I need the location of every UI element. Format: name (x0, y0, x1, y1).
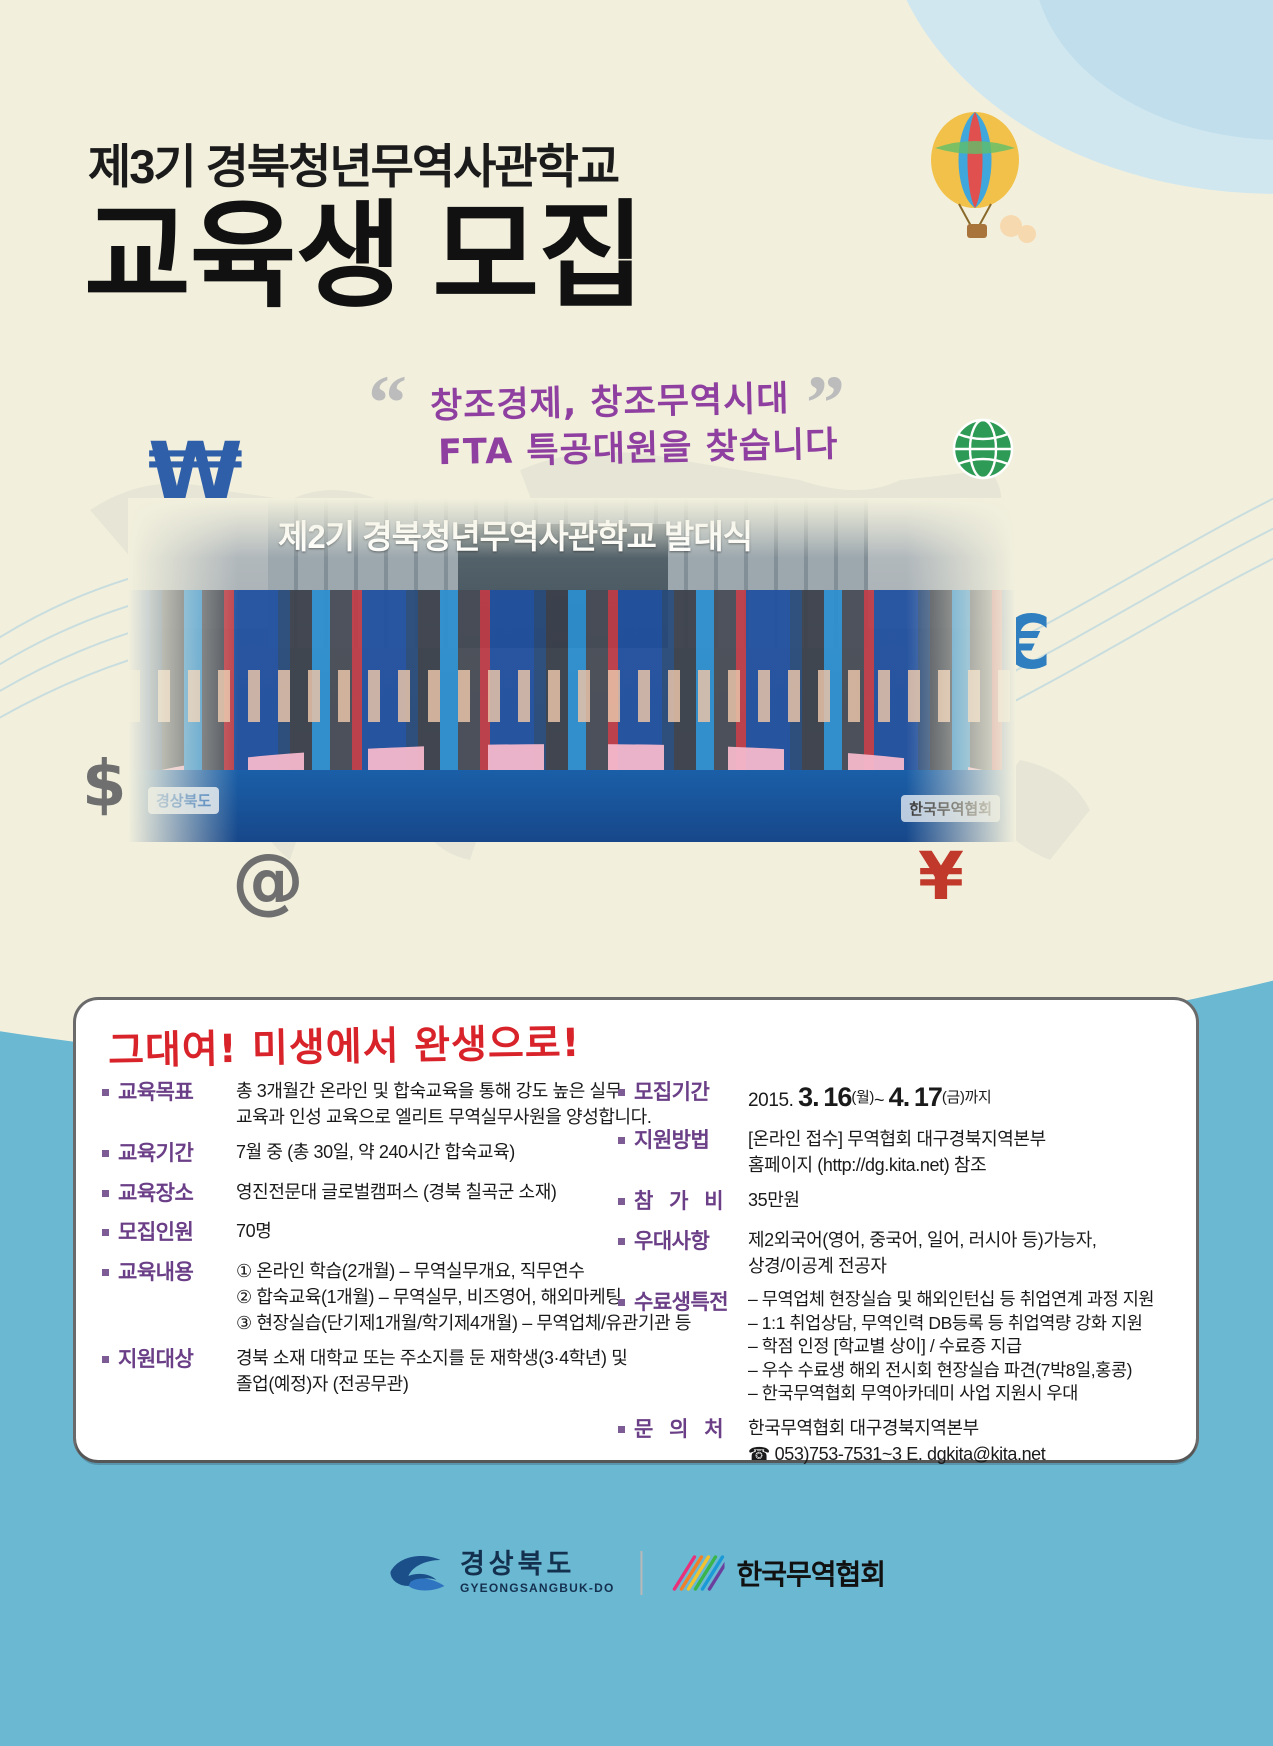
info-row-우대사항: 우대사항제2외국어(영어, 중국어, 일어, 러시아 등)가능자,상경/이공계 … (618, 1227, 1196, 1279)
yen-currency-icon: ¥ (918, 838, 964, 915)
period-end-month: 4. (889, 1082, 910, 1112)
period-start-month: 3. (798, 1082, 819, 1112)
info-value-line: 70명 (236, 1218, 271, 1244)
bullet-icon (618, 1299, 627, 1306)
photo-fade-top (128, 498, 1016, 558)
period-start-day: 16 (823, 1082, 851, 1112)
card-column-left: 교육목표총 3개월간 온라인 및 합숙교육을 통해 강도 높은 실무교육과 인성… (76, 1078, 608, 1476)
info-value: 영진전문대 글로벌캠퍼스 (경북 칠곡군 소재) (226, 1179, 556, 1205)
info-label: 우대사항 (634, 1227, 738, 1257)
card-headline: 그대여! 미생에서 완생으로! (108, 1012, 581, 1076)
period-year: 2015. (748, 1090, 794, 1111)
info-row-지원대상: 지원대상경북 소재 대학교 또는 주소지를 둔 재학생(3·4학년) 및졸업(예… (102, 1345, 608, 1397)
info-row-교육기간: 교육기간7월 중 (총 30일, 약 240시간 합숙교육) (102, 1139, 608, 1169)
footer-divider (640, 1551, 642, 1595)
info-value-line: 7월 중 (총 30일, 약 240시간 합숙교육) (236, 1139, 515, 1165)
period-start-dow: (월) (851, 1089, 874, 1106)
bullet-icon (618, 1137, 627, 1144)
info-value-line: 홈페이지 (http://dg.kita.net) 참조 (748, 1152, 1046, 1178)
gyeongbuk-logo-en: GYEONGSANGBUK-DO (460, 1581, 615, 1595)
kita-mark-icon (668, 1553, 724, 1593)
info-value: 총 3개월간 온라인 및 합숙교육을 통해 강도 높은 실무교육과 인성 교육으… (226, 1078, 651, 1130)
gyeongbuk-logo-text: 경상북도 GYEONGSANGBUK-DO (460, 1551, 615, 1595)
poster-title: 교육생 모집 (84, 196, 644, 318)
info-row-지원방법: 지원방법[온라인 접수] 무역협회 대구경북지역본부홈페이지 (http://d… (618, 1126, 1196, 1178)
info-card: 그대여! 미생에서 완생으로! 교육목표총 3개월간 온라인 및 합숙교육을 통… (76, 1000, 1196, 1460)
period-tilde: ~ (874, 1090, 884, 1110)
kita-logo: 한국무역협회 (668, 1553, 885, 1593)
gyeongbuk-logo-kr: 경상북도 (460, 1551, 615, 1578)
info-row-모집기간: 모집기간2015. 3. 16(월)~ 4. 17(금)까지 (618, 1078, 1196, 1117)
info-row-교육장소: 교육장소영진전문대 글로벌캠퍼스 (경북 칠곡군 소재) (102, 1179, 608, 1209)
info-value: 35만원 (738, 1187, 800, 1213)
bullet-icon (102, 1269, 111, 1276)
event-photo: 제2기 경북청년무역사관학교 발대식 경상북도 한국무역협회 (128, 498, 1016, 842)
info-value-line: – 한국무역협회 무역아카데미 사업 지원시 우대 (748, 1382, 1154, 1406)
info-value-line: 한국무역협회 대구경북지역본부 (748, 1415, 1045, 1441)
info-label: 지원방법 (634, 1126, 738, 1156)
info-row-문의처: 문 의 처한국무역협회 대구경북지역본부☎ 053)753-7531~3 E. … (618, 1415, 1196, 1467)
info-label: 교육목표 (118, 1078, 226, 1108)
info-value: 70명 (226, 1218, 271, 1244)
gyeongsangbuk-do-logo: 경상북도 GYEONGSANGBUK-DO (388, 1551, 615, 1595)
quote-open-icon: “ (368, 364, 407, 442)
info-value-line: ☎ 053)753-7531~3 E. dgkita@kita.net (748, 1441, 1045, 1467)
photo-banner (128, 770, 1016, 842)
info-label: 참 가 비 (634, 1187, 738, 1217)
bullet-icon (618, 1238, 627, 1245)
bullet-icon (102, 1356, 111, 1363)
info-row-수료생특전: 수료생특전– 무역업체 현장실습 및 해외인턴십 등 취업연계 과정 지원– 1… (618, 1288, 1196, 1406)
globe-icon (952, 418, 1014, 480)
info-label: 교육내용 (118, 1258, 226, 1288)
hot-air-balloon-icon (915, 108, 1045, 253)
info-value-line: 경북 소재 대학교 또는 주소지를 둔 재학생(3·4학년) 및 (236, 1345, 627, 1371)
info-value: 7월 중 (총 30일, 약 240시간 합숙교육) (226, 1139, 515, 1165)
photo-crowd-faces (128, 670, 1016, 722)
bullet-icon (618, 1198, 627, 1205)
card-columns: 교육목표총 3개월간 온라인 및 합숙교육을 통해 강도 높은 실무교육과 인성… (76, 1078, 1196, 1476)
info-label: 수료생특전 (634, 1288, 738, 1318)
info-label: 모집인원 (118, 1218, 226, 1248)
info-label: 교육기간 (118, 1139, 226, 1169)
info-value-line: – 1:1 취업상담, 무역인력 DB등록 등 취업역량 강화 지원 (748, 1312, 1154, 1336)
info-value-line: – 우수 수료생 해외 전시회 현장실습 파견(7박8일,홍콩) (748, 1359, 1154, 1383)
info-value-line: [온라인 접수] 무역협회 대구경북지역본부 (748, 1126, 1046, 1152)
bullet-icon (102, 1229, 111, 1236)
info-value-line: 영진전문대 글로벌캠퍼스 (경북 칠곡군 소재) (236, 1179, 556, 1205)
info-value: – 무역업체 현장실습 및 해외인턴십 등 취업연계 과정 지원– 1:1 취업… (738, 1288, 1154, 1406)
at-symbol-icon: @ (232, 838, 304, 922)
info-value-line: 35만원 (748, 1187, 800, 1213)
tagline-block: “ ” 창조경제, 창조무역시대 FTA 특공대원을 찾습니다 (368, 358, 928, 478)
period-end-day: 17 (914, 1082, 942, 1112)
info-label: 교육장소 (118, 1179, 226, 1209)
poster-root: ₩ $ @ € ¥ 제3기 경북청년무역사관학교 교육생 모집 “ ” 창조경제… (0, 0, 1273, 1746)
poster-subtitle: 제3기 경북청년무역사관학교 (88, 128, 618, 197)
info-value: 경북 소재 대학교 또는 주소지를 둔 재학생(3·4학년) 및졸업(예정)자 … (226, 1345, 627, 1397)
info-value: 한국무역협회 대구경북지역본부☎ 053)753-7531~3 E. dgkit… (738, 1415, 1045, 1467)
info-value-line: 총 3개월간 온라인 및 합숙교육을 통해 강도 높은 실무 (236, 1078, 651, 1104)
info-label: 지원대상 (118, 1345, 226, 1375)
info-value: [온라인 접수] 무역협회 대구경북지역본부홈페이지 (http://dg.ki… (738, 1126, 1046, 1178)
info-row-교육목표: 교육목표총 3개월간 온라인 및 합숙교육을 통해 강도 높은 실무교육과 인성… (102, 1078, 608, 1130)
card-column-right: 모집기간2015. 3. 16(월)~ 4. 17(금)까지지원방법[온라인 접… (608, 1078, 1196, 1476)
tagline-line-2: FTA 특공대원을 찾습니다 (438, 416, 839, 475)
kita-logo-text: 한국무역협회 (736, 1553, 885, 1593)
info-value: 제2외국어(영어, 중국어, 일어, 러시아 등)가능자,상경/이공계 전공자 (738, 1227, 1097, 1279)
gyeongbuk-mark-icon (388, 1552, 448, 1594)
period-suffix: 까지 (964, 1089, 991, 1106)
bullet-icon (102, 1150, 111, 1157)
info-value-line: 제2외국어(영어, 중국어, 일어, 러시아 등)가능자, (748, 1227, 1097, 1253)
info-label: 문 의 처 (634, 1415, 738, 1445)
info-row-모집인원: 모집인원70명 (102, 1218, 608, 1248)
info-value: 2015. 3. 16(월)~ 4. 17(금)까지 (738, 1078, 991, 1117)
dollar-currency-icon: $ (82, 748, 127, 822)
bullet-icon (618, 1426, 627, 1433)
bullet-icon (618, 1089, 627, 1096)
info-row-참가비: 참 가 비35만원 (618, 1187, 1196, 1217)
bullet-icon (102, 1089, 111, 1096)
info-value-line: 졸업(예정)자 (전공무관) (236, 1371, 627, 1397)
period-end-dow: (금) (942, 1089, 965, 1106)
info-value-line: – 학점 인정 [학교별 상이] / 수료증 지급 (748, 1335, 1154, 1359)
info-value-line: – 무역업체 현장실습 및 해외인턴십 등 취업연계 과정 지원 (748, 1288, 1154, 1312)
bullet-icon (102, 1190, 111, 1197)
info-value-line: 상경/이공계 전공자 (748, 1253, 1097, 1279)
info-value-line: 교육과 인성 교육으로 엘리트 무역실무사원을 양성합니다. (236, 1104, 651, 1130)
footer-logos: 경상북도 GYEONGSANGBUK-DO 한국무역협회 (388, 1551, 885, 1595)
info-row-교육내용: 교육내용① 온라인 학습(2개월) – 무역실무개요, 직무연수② 합숙교육(1… (102, 1258, 608, 1336)
poster-footer: 경상북도 GYEONGSANGBUK-DO 한국무역협회 (0, 1531, 1273, 1746)
info-label: 모집기간 (634, 1078, 738, 1108)
